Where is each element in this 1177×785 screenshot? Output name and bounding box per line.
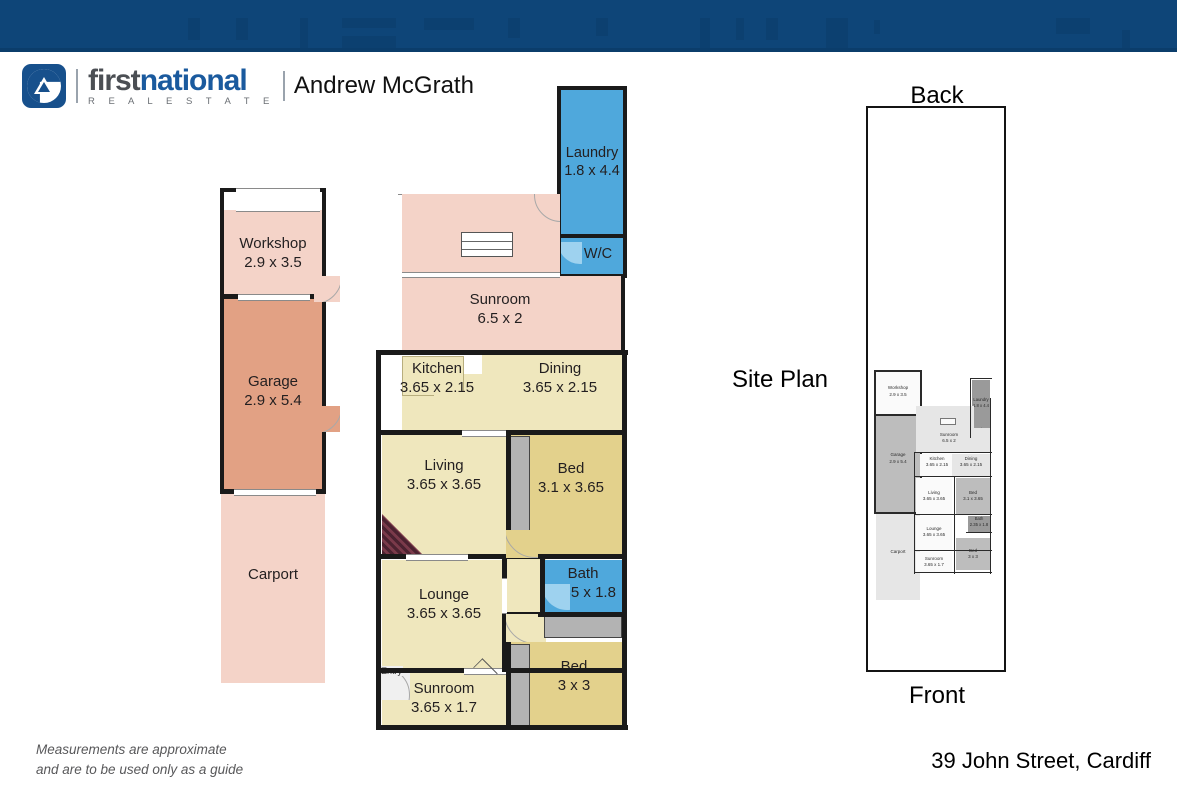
opening-kitchen-living — [462, 430, 506, 437]
wall-laundry-wc — [557, 234, 627, 238]
mini-bed-rear-dims: 3 x 3 — [956, 554, 990, 559]
banner-pattern-block — [766, 18, 778, 40]
mini-living-label: Living — [914, 490, 954, 495]
wall-bath-left — [540, 554, 545, 614]
opening-living-lounge — [406, 554, 468, 561]
mini-sunroom-rear-dims: 6.5 x 2 — [916, 438, 982, 443]
wall-house-right — [622, 350, 627, 730]
room-workshop — [221, 210, 325, 298]
mini-bed-front-label: Bed — [956, 490, 990, 495]
banner-pattern-block — [596, 18, 608, 36]
site-plan-title: Site Plan — [700, 366, 860, 394]
mini-sunroom-front-dims: 3.65 x 1.7 — [914, 562, 954, 567]
mini-kitchen-label: Kitchen — [918, 456, 956, 461]
mini-bath-dims: 2.35 x 1.8 — [966, 523, 992, 528]
first-national-logo-icon — [22, 64, 66, 108]
mini-wall — [914, 452, 992, 453]
wall-laundry-top — [557, 86, 627, 90]
disclaimer-line-2: and are to be used only as a guide — [36, 760, 243, 780]
mini-dining-dims: 3.65 x 2.15 — [952, 462, 990, 467]
banner-pattern-block — [236, 18, 248, 40]
door-wc-icon — [560, 242, 582, 276]
mini-wall — [914, 452, 915, 574]
mini-wall — [874, 370, 876, 514]
mini-bed-front-dims: 3.1 x 3.65 — [956, 496, 990, 501]
mini-wall — [914, 514, 992, 515]
wall-dining-bed — [506, 430, 626, 435]
mini-sunroom-front-label: Sunroom — [914, 556, 954, 561]
wardrobe-bed-rear — [510, 644, 530, 728]
window-sunroom-top — [400, 272, 560, 278]
door-garage-icon — [314, 406, 340, 432]
mini-kitchen-dims: 3.65 x 2.15 — [918, 462, 956, 467]
opening-workshop-front — [236, 188, 320, 212]
mini-workshop-label: Workshop — [876, 385, 920, 390]
door-bath-icon — [544, 584, 570, 612]
site-front-label: Front — [866, 682, 1008, 710]
room-carport — [221, 493, 325, 683]
mini-wall — [874, 414, 922, 416]
mini-sunroom-rear-label: Sunroom — [916, 432, 982, 437]
door-laundry-icon — [534, 194, 560, 224]
site-plan: Carport Garage 2.9 x 5.4 Workshop 2.9 x … — [866, 106, 1006, 672]
mini-dining-label: Dining — [952, 456, 990, 461]
wall-house-top — [376, 350, 628, 355]
property-address: 39 John Street, Cardiff — [931, 748, 1151, 774]
kitchen-floor — [402, 396, 436, 430]
brand-tagline: R E A L E S T A T E — [88, 97, 277, 107]
banner-pattern-block — [826, 18, 848, 52]
outbuilding-plan: Carport Garage 2.9 x 5.4 Workshop 2.9 x … — [220, 188, 326, 684]
banner-pattern-block — [874, 20, 880, 34]
kitchen-dining-floor — [434, 392, 622, 430]
wardrobe-bed-front — [510, 436, 530, 532]
opening-garage-rear — [238, 294, 310, 301]
logo-divider — [76, 69, 78, 103]
wall-sunroom-right — [621, 276, 625, 356]
banner-pattern-block — [424, 18, 474, 30]
agent-divider — [283, 71, 285, 101]
mini-lounge-dims: 3.65 x 3.65 — [914, 532, 954, 537]
room-sunroom-rear — [400, 276, 625, 352]
wall-house-left — [376, 350, 381, 730]
mini-wall — [970, 378, 971, 438]
mini-wall — [990, 398, 991, 574]
header-banner — [0, 0, 1177, 52]
wall-hall-bedrear — [506, 668, 626, 673]
banner-pattern-block — [700, 18, 710, 52]
stairs — [461, 232, 513, 257]
mini-lounge-label: Lounge — [914, 526, 954, 531]
banner-bottom-strip — [0, 48, 1177, 52]
house-plan: Laundry 1.8 x 4.4 W/C Sunroom 6.5 x 2 Ki… — [376, 86, 628, 730]
mini-wall — [966, 532, 992, 533]
linen-cupboard — [544, 616, 622, 638]
banner-pattern-block — [300, 18, 308, 52]
mini-wall — [914, 572, 992, 573]
wall-right — [322, 188, 326, 494]
wall-laundry-right — [623, 86, 627, 278]
wall-left — [220, 188, 224, 494]
mini-stairs — [940, 418, 956, 425]
brand-word-first: first — [88, 64, 140, 97]
door-workshop-icon — [314, 276, 340, 302]
kitchen-bench — [402, 356, 464, 396]
mini-living-dims: 3.65 x 3.65 — [914, 496, 954, 501]
mini-wall — [954, 476, 955, 574]
banner-pattern-block — [508, 18, 520, 38]
opening-garage-door — [234, 489, 316, 496]
mini-wall — [970, 378, 992, 379]
banner-pattern-block — [188, 18, 200, 40]
banner-pattern-block — [1056, 18, 1090, 34]
mini-wall — [914, 550, 992, 551]
banner-pattern-block — [736, 18, 744, 40]
mini-wall — [914, 476, 992, 477]
opening-hall-lounge — [502, 578, 507, 614]
room-lounge — [382, 560, 506, 670]
room-garage — [221, 298, 325, 494]
window-sunroom-left — [398, 194, 402, 354]
mini-wall — [874, 370, 922, 372]
disclaimer-line-1: Measurements are approximate — [36, 740, 243, 760]
brand-word-national: national — [140, 64, 247, 97]
brand-wordmark: firstnational R E A L E S T A T E — [88, 66, 277, 107]
door-hall-icon — [506, 614, 538, 642]
wall-house-bottom — [376, 725, 628, 730]
banner-pattern-block — [342, 18, 396, 28]
disclaimer: Measurements are approximate and are to … — [36, 740, 243, 781]
door-bed-front-icon — [506, 530, 538, 558]
mini-workshop-dims: 2.9 x 3.5 — [876, 392, 920, 397]
